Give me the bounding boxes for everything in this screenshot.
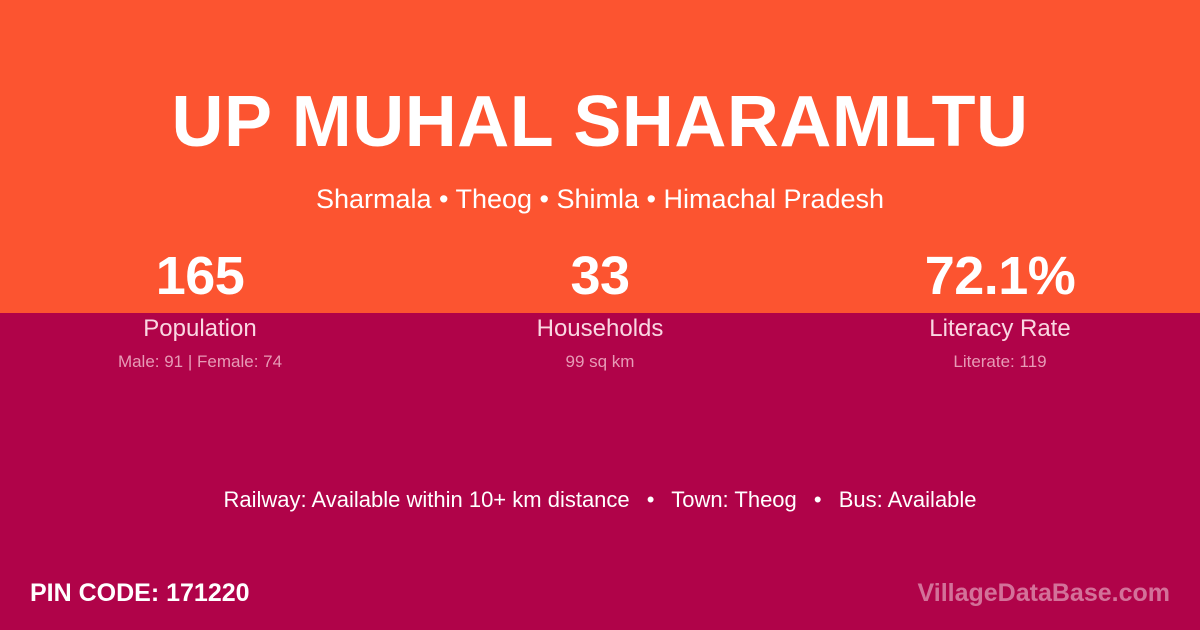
amenity-separator-1: • (636, 486, 666, 514)
stat-households-value: 33 (400, 246, 800, 306)
location-breadcrumb: Sharmala • Theog • Shimla • Himachal Pra… (0, 182, 1200, 216)
brand-watermark: VillageDataBase.com (918, 578, 1170, 608)
stat-literacy-rate-label: Literacy Rate (800, 315, 1200, 343)
stat-households-label: Households (400, 315, 800, 343)
amenity-separator-2: • (803, 486, 833, 514)
stat-literacy-rate: 72.1% Literacy Rate Literate: 119 (800, 246, 1200, 372)
stat-population: 165 Population Male: 91 | Female: 74 (0, 246, 400, 372)
amenity-bus: Bus: Available (839, 487, 977, 512)
stat-households-area: 99 sq km (400, 352, 800, 372)
pin-code: PIN CODE: 171220 (30, 578, 250, 608)
stats-row: 165 Population Male: 91 | Female: 74 33 … (0, 246, 1200, 372)
amenities-line: Railway: Available within 10+ km distanc… (0, 486, 1200, 514)
stat-literate-count: Literate: 119 (800, 352, 1200, 372)
stat-population-breakdown: Male: 91 | Female: 74 (0, 352, 400, 372)
stat-households: 33 Households 99 sq km (400, 246, 800, 372)
amenity-railway: Railway: Available within 10+ km distanc… (223, 487, 629, 512)
amenity-town: Town: Theog (671, 487, 797, 512)
stat-population-label: Population (0, 315, 400, 343)
village-info-card: UP MUHAL SHARAMLTU Sharmala • Theog • Sh… (0, 0, 1200, 630)
stat-population-value: 165 (0, 246, 400, 306)
stat-literacy-rate-value: 72.1% (800, 246, 1200, 306)
page-title: UP MUHAL SHARAMLTU (0, 80, 1200, 164)
